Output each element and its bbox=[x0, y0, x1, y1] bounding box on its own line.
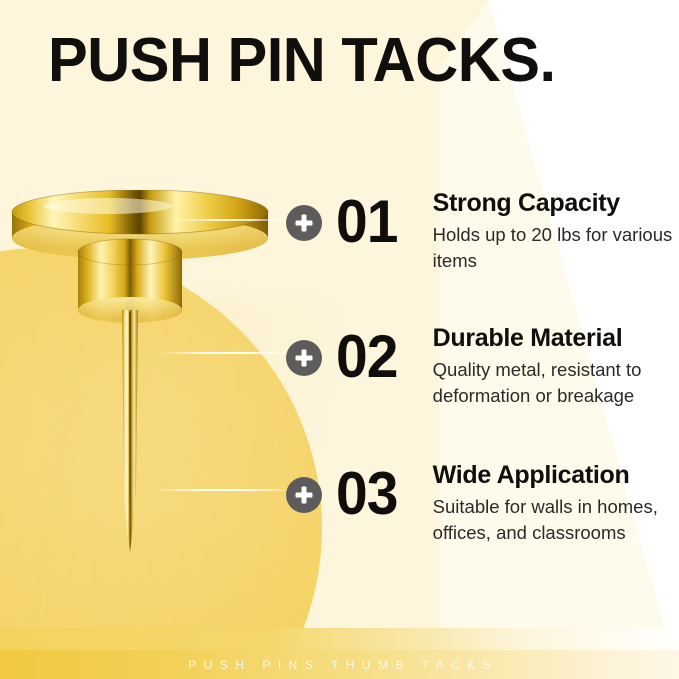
feature-description: Quality metal, resistant to deformation … bbox=[433, 357, 679, 410]
feature-text-block: Durable Material Quality metal, resistan… bbox=[433, 325, 679, 409]
page-title: PUSH PIN TACKS. bbox=[48, 30, 556, 92]
feature-text-block: Wide Application Suitable for walls in h… bbox=[433, 462, 679, 546]
feature-item-02: 02 Durable Material Quality metal, resis… bbox=[286, 325, 679, 409]
feature-number: 01 bbox=[336, 192, 422, 252]
feature-item-03: 03 Wide Application Suitable for walls i… bbox=[286, 462, 679, 546]
feature-title: Wide Application bbox=[433, 462, 679, 490]
feature-number: 03 bbox=[336, 464, 422, 524]
plus-icon bbox=[286, 477, 322, 513]
feature-description: Suitable for walls in homes, offices, an… bbox=[433, 494, 679, 547]
bottom-banner: PUSH PINS THUMB TACKS bbox=[0, 650, 679, 679]
banner-text: PUSH PINS THUMB TACKS bbox=[181, 658, 499, 672]
plus-icon bbox=[286, 340, 322, 376]
feature-description: Holds up to 20 lbs for various items bbox=[433, 222, 679, 275]
feature-item-01: 01 Strong Capacity Holds up to 20 lbs fo… bbox=[286, 190, 679, 274]
banner-sheen bbox=[0, 628, 679, 650]
feature-number: 02 bbox=[336, 327, 422, 387]
infographic-canvas: PUSH PIN TACKS. bbox=[0, 0, 679, 679]
feature-title: Durable Material bbox=[433, 325, 679, 353]
feature-title: Strong Capacity bbox=[433, 190, 679, 218]
product-image-push-pin bbox=[0, 190, 280, 570]
plus-icon bbox=[286, 205, 322, 241]
feature-text-block: Strong Capacity Holds up to 20 lbs for v… bbox=[433, 190, 679, 274]
